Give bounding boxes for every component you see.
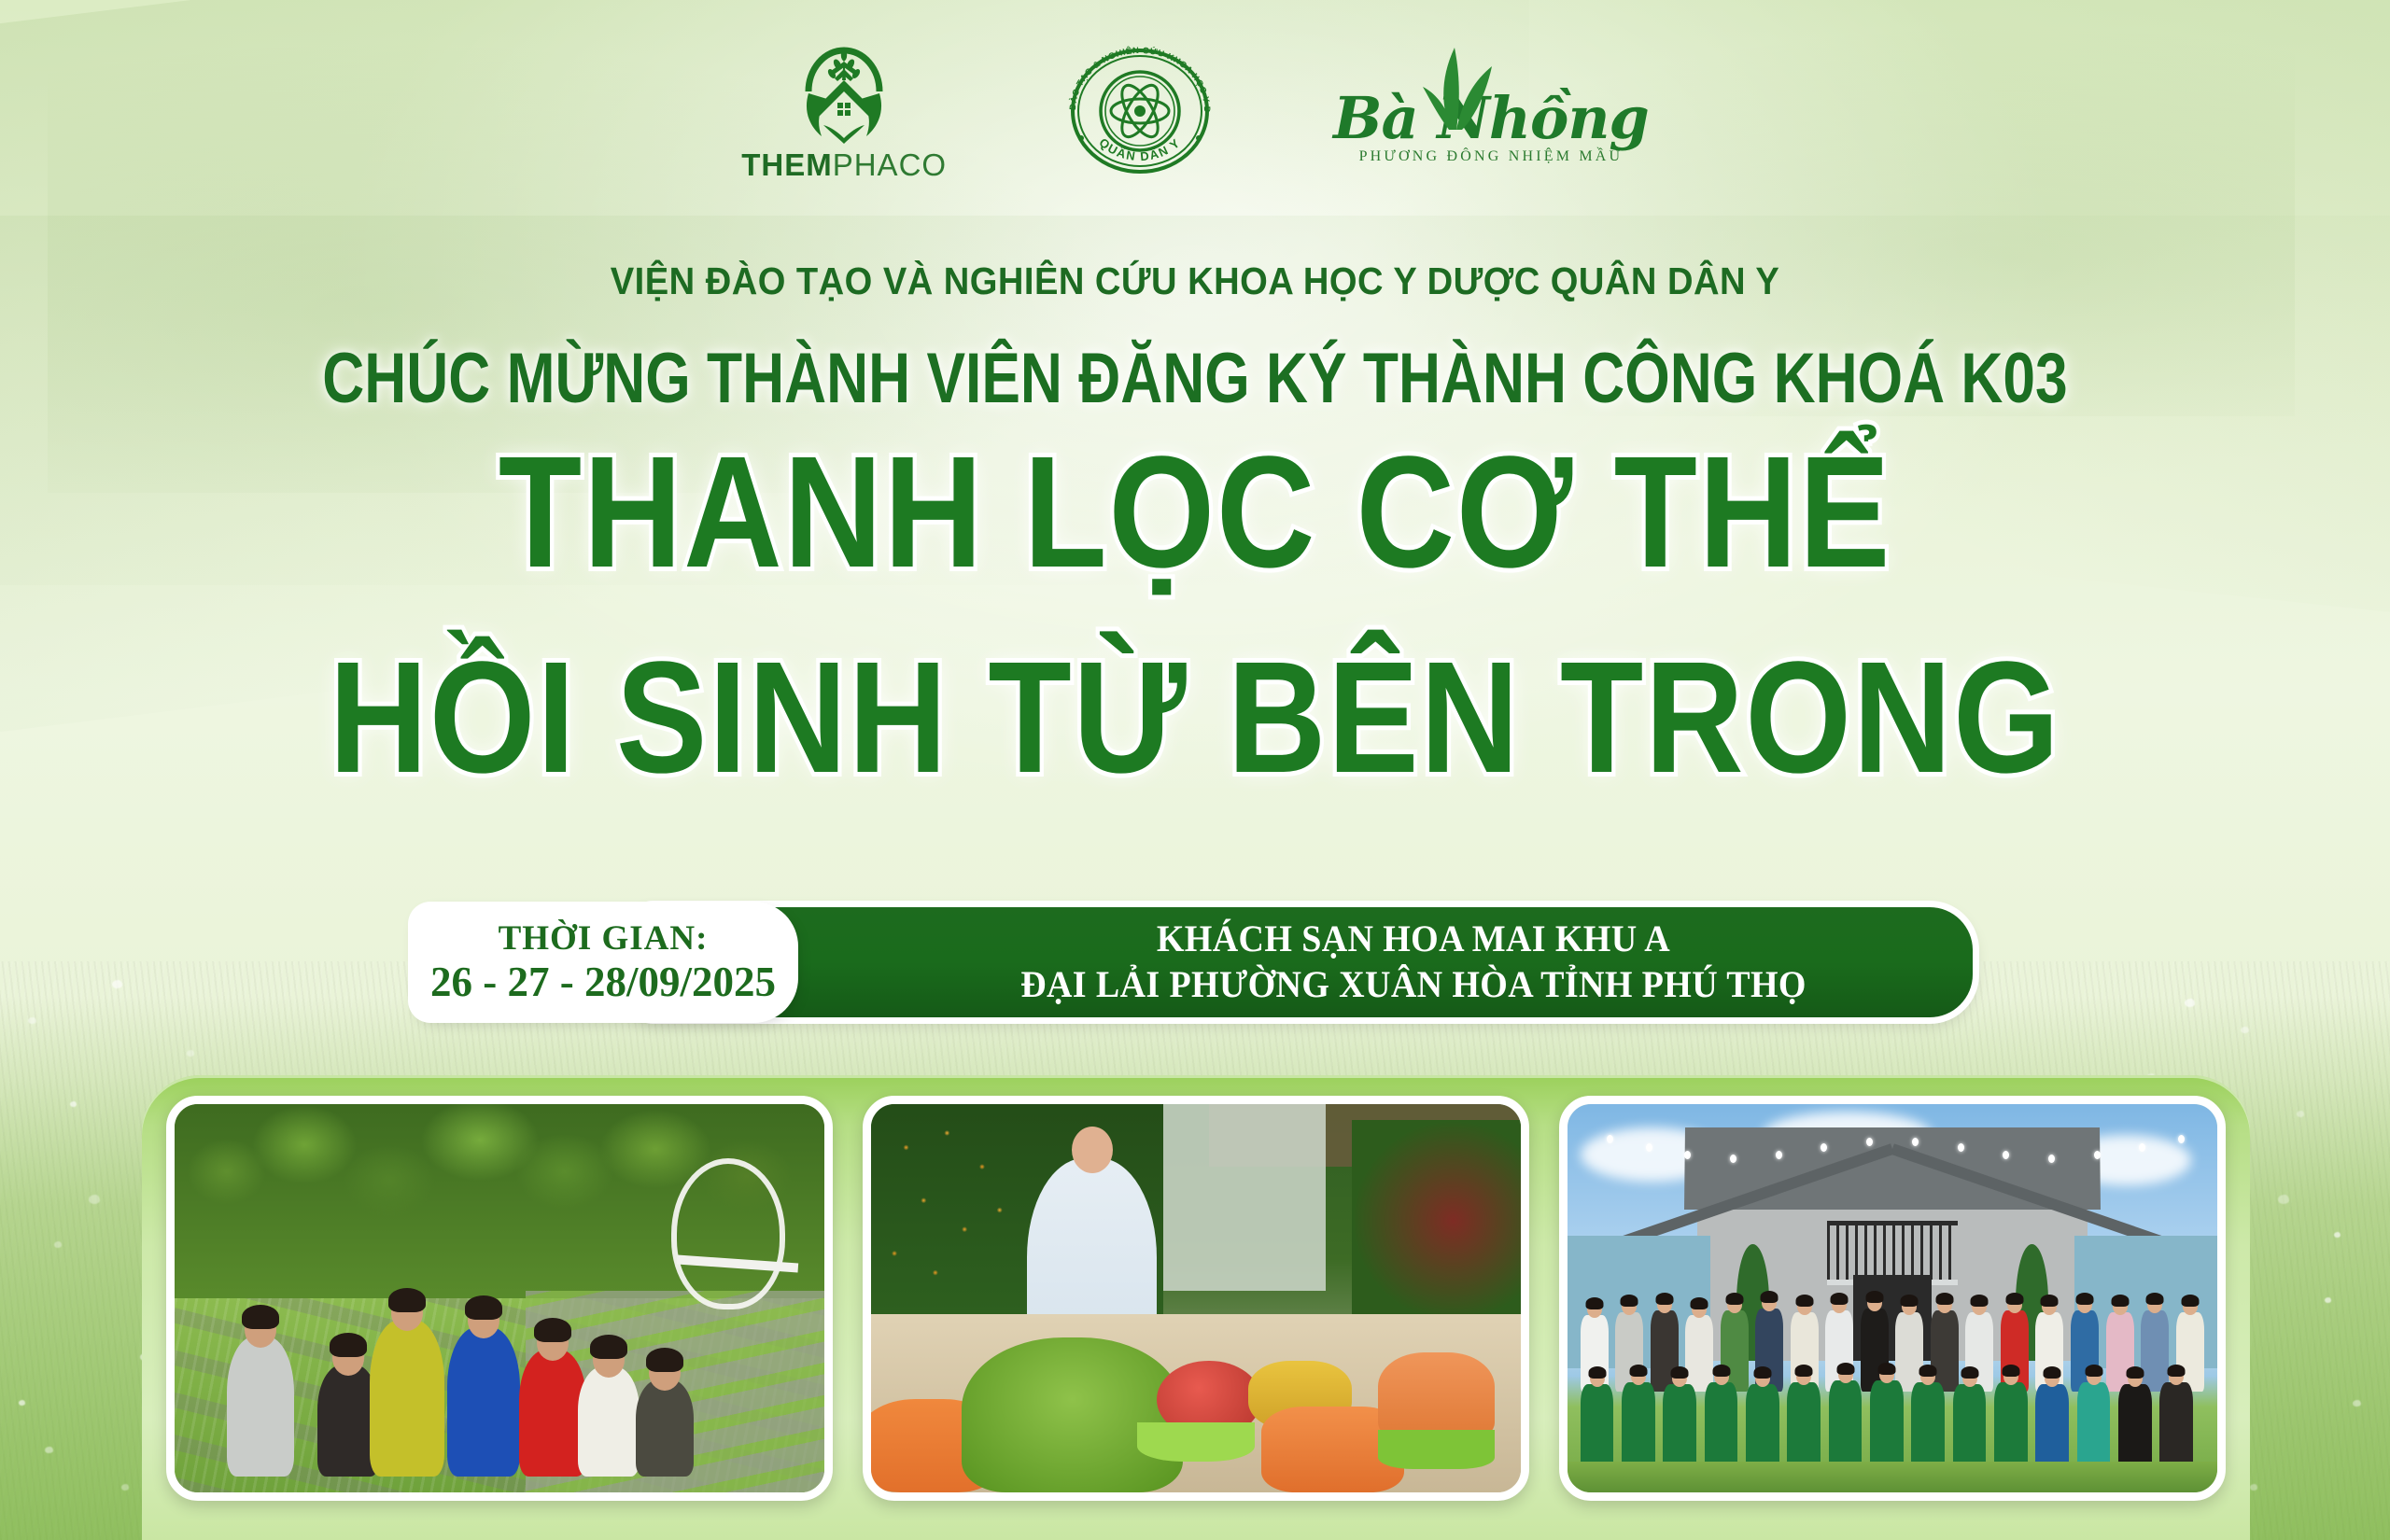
petal-decoration xyxy=(2353,1400,2361,1407)
themphaco-logo: THEMPHACO xyxy=(741,39,947,183)
petal-decoration xyxy=(2278,1195,2289,1204)
tree-house-in-hands-icon xyxy=(786,39,902,144)
venue-panel: KHÁCH SẠN HOA MAI KHU A ĐẠI LẢI PHƯỜNG X… xyxy=(636,907,1973,1017)
ba-nhong-logo: Bà Nhồng PHƯƠNG ĐÔNG NHIỆM MẦU xyxy=(1333,57,1649,165)
petal-decoration xyxy=(2334,1232,2341,1238)
photo-outdoor-group-meditation[interactable] xyxy=(166,1096,833,1501)
themphaco-wordmark: THEMPHACO xyxy=(741,147,947,183)
petal-decoration xyxy=(2297,1111,2304,1117)
petal-decoration xyxy=(19,1400,25,1406)
time-value: 26 - 27 - 28/09/2025 xyxy=(430,959,776,1005)
petal-decoration xyxy=(2185,999,2195,1007)
gallery-panel xyxy=(142,1075,2250,1540)
petal-decoration xyxy=(2325,1297,2331,1303)
photo-woman-with-fresh-produce[interactable] xyxy=(863,1096,1529,1501)
petal-decoration xyxy=(70,1101,77,1107)
poster-canvas: THEMPHACO xyxy=(0,0,2390,1540)
venue-line-2: ĐẠI LẢI PHƯỜNG XUÂN HÒA TỈNH PHÚ THỌ xyxy=(1020,962,1807,1008)
petal-decoration xyxy=(112,980,122,988)
petal-decoration xyxy=(45,1447,53,1453)
photo-group-in-front-of-house[interactable] xyxy=(1559,1096,2226,1501)
leaf-icon xyxy=(1413,42,1499,132)
hero-title-line-1: THANH LỌC CƠ THỂ xyxy=(167,439,2223,588)
venue-line-1: KHÁCH SẠN HOA MAI KHU A xyxy=(1157,917,1670,962)
institute-line: VIỆN ĐÀO TẠO VÀ NGHIÊN CỨU KHOA HỌC Y DƯ… xyxy=(84,259,2307,303)
time-label: THỜI GIAN: xyxy=(499,919,709,958)
quan-dan-y-seal: VIỆN ĐÀO TẠO & NGHIÊN CỨU KHOA HỌC Y DƯỢ… xyxy=(1057,41,1223,181)
hero-title-line-2: HỒI SINH TỪ BÊN TRONG xyxy=(167,644,2223,793)
themphaco-wordmark-bold: THEM xyxy=(741,147,833,183)
petal-decoration xyxy=(2250,1484,2257,1491)
petal-decoration xyxy=(121,1484,129,1491)
atom-icon: VIỆN ĐÀO TẠO & NGHIÊN CỨU KHOA HỌC Y DƯỢ… xyxy=(1057,41,1223,181)
info-bar: KHÁCH SẠN HOA MAI KHU A ĐẠI LẢI PHƯỜNG X… xyxy=(414,907,1973,1017)
petal-decoration xyxy=(187,1050,194,1057)
petal-decoration xyxy=(2241,1027,2249,1033)
logo-row: THEMPHACO xyxy=(0,41,2390,181)
petal-decoration xyxy=(89,1195,100,1204)
petal-decoration xyxy=(54,1241,62,1248)
congrats-headline: CHÚC MỪNG THÀNH VIÊN ĐĂNG KÝ THÀNH CÔNG … xyxy=(215,343,2174,414)
petal-decoration xyxy=(28,1017,36,1024)
themphaco-wordmark-light: PHACO xyxy=(833,147,947,183)
time-panel: THỜI GIAN: 26 - 27 - 28/09/2025 xyxy=(414,907,793,1017)
string-lights xyxy=(1568,1120,2217,1190)
